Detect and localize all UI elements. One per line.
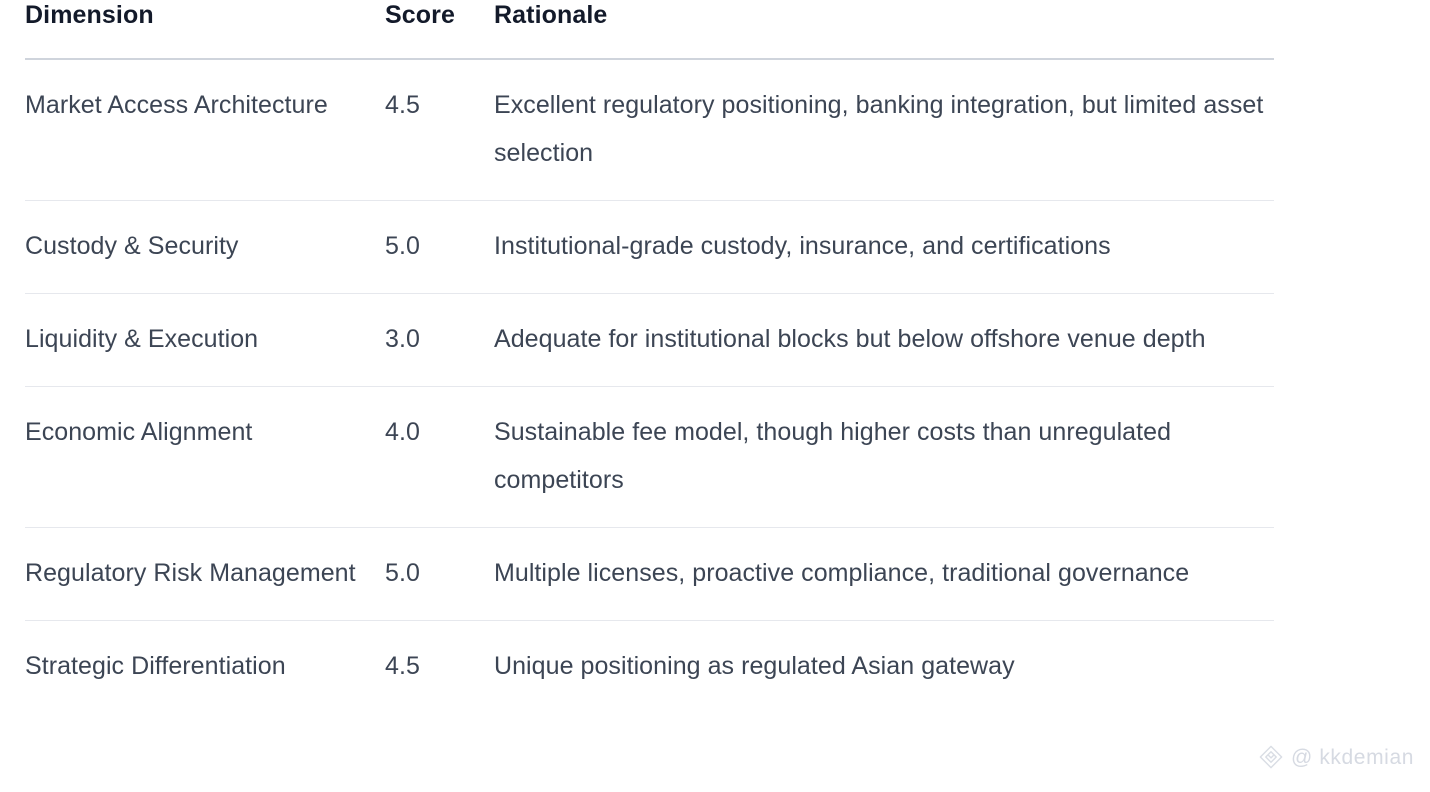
cell-score: 5.0 bbox=[385, 201, 494, 294]
cell-rationale: Adequate for institutional blocks but be… bbox=[494, 294, 1274, 387]
table-row: Market Access Architecture 4.5 Excellent… bbox=[25, 59, 1274, 201]
cell-rationale: Unique positioning as regulated Asian ga… bbox=[494, 621, 1274, 714]
cell-dimension: Strategic Differentiation bbox=[25, 621, 385, 714]
cell-rationale: Multiple licenses, proactive compliance,… bbox=[494, 528, 1274, 621]
cell-score: 3.0 bbox=[385, 294, 494, 387]
column-header-rationale: Rationale bbox=[494, 0, 1274, 59]
cell-score: 4.5 bbox=[385, 621, 494, 714]
evaluation-table-container: Dimension Score Rationale Market Access … bbox=[25, 0, 1274, 713]
cell-dimension: Market Access Architecture bbox=[25, 59, 385, 201]
table-row: Liquidity & Execution 3.0 Adequate for i… bbox=[25, 294, 1274, 387]
table-row: Custody & Security 5.0 Institutional-gra… bbox=[25, 201, 1274, 294]
column-header-dimension: Dimension bbox=[25, 0, 385, 59]
table-row: Regulatory Risk Management 5.0 Multiple … bbox=[25, 528, 1274, 621]
evaluation-table: Dimension Score Rationale Market Access … bbox=[25, 0, 1274, 713]
cell-score: 5.0 bbox=[385, 528, 494, 621]
cell-dimension: Regulatory Risk Management bbox=[25, 528, 385, 621]
diamond-logo-icon bbox=[1258, 744, 1284, 770]
cell-score: 4.5 bbox=[385, 59, 494, 201]
cell-dimension: Custody & Security bbox=[25, 201, 385, 294]
table-row: Economic Alignment 4.0 Sustainable fee m… bbox=[25, 387, 1274, 528]
table-header: Dimension Score Rationale bbox=[25, 0, 1274, 59]
table-body: Market Access Architecture 4.5 Excellent… bbox=[25, 59, 1274, 713]
column-header-score: Score bbox=[385, 0, 494, 59]
cell-rationale: Sustainable fee model, though higher cos… bbox=[494, 387, 1274, 528]
table-row: Strategic Differentiation 4.5 Unique pos… bbox=[25, 621, 1274, 714]
watermark-handle: @ kkdemian bbox=[1291, 747, 1414, 768]
page-root: Dimension Score Rationale Market Access … bbox=[0, 0, 1430, 792]
table-header-row: Dimension Score Rationale bbox=[25, 0, 1274, 59]
cell-dimension: Economic Alignment bbox=[25, 387, 385, 528]
cell-rationale: Institutional-grade custody, insurance, … bbox=[494, 201, 1274, 294]
cell-dimension: Liquidity & Execution bbox=[25, 294, 385, 387]
cell-score: 4.0 bbox=[385, 387, 494, 528]
cell-rationale: Excellent regulatory positioning, bankin… bbox=[494, 59, 1274, 201]
watermark: @ kkdemian bbox=[1258, 744, 1414, 770]
